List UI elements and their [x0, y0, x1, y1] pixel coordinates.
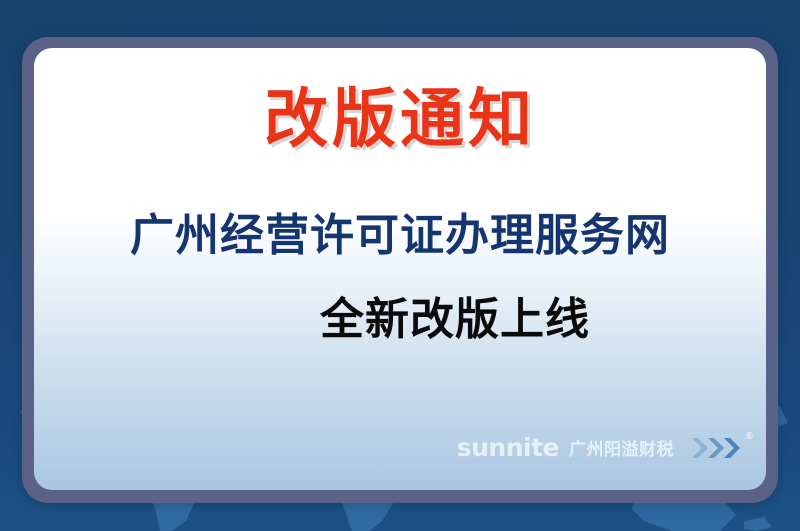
- chevron-right-icon: [690, 437, 744, 459]
- brand-latin-name: sunnite: [457, 433, 559, 462]
- brand-chinese-name: 广州阳溢财税: [569, 435, 674, 460]
- brand-watermark: sunnite ® 广州阳溢财税: [457, 433, 744, 462]
- promo-poster: 改版通知 广州经营许可证办理服务网 全新改版上线 sunnite ® 广州阳溢财…: [0, 0, 800, 531]
- subtitle-block: 广州经营许可证办理服务网 全新改版上线: [34, 213, 766, 343]
- subtitle-line-site-name: 广州经营许可证办理服务网: [34, 213, 766, 259]
- registered-trademark-icon: ®: [746, 431, 753, 442]
- poster-card: 改版通知 广州经营许可证办理服务网 全新改版上线 sunnite ® 广州阳溢财…: [34, 48, 766, 490]
- page-title: 改版通知: [34, 88, 766, 152]
- chevron-right-icon-group: [690, 437, 744, 459]
- subtitle-line-relaunch: 全新改版上线: [34, 297, 766, 343]
